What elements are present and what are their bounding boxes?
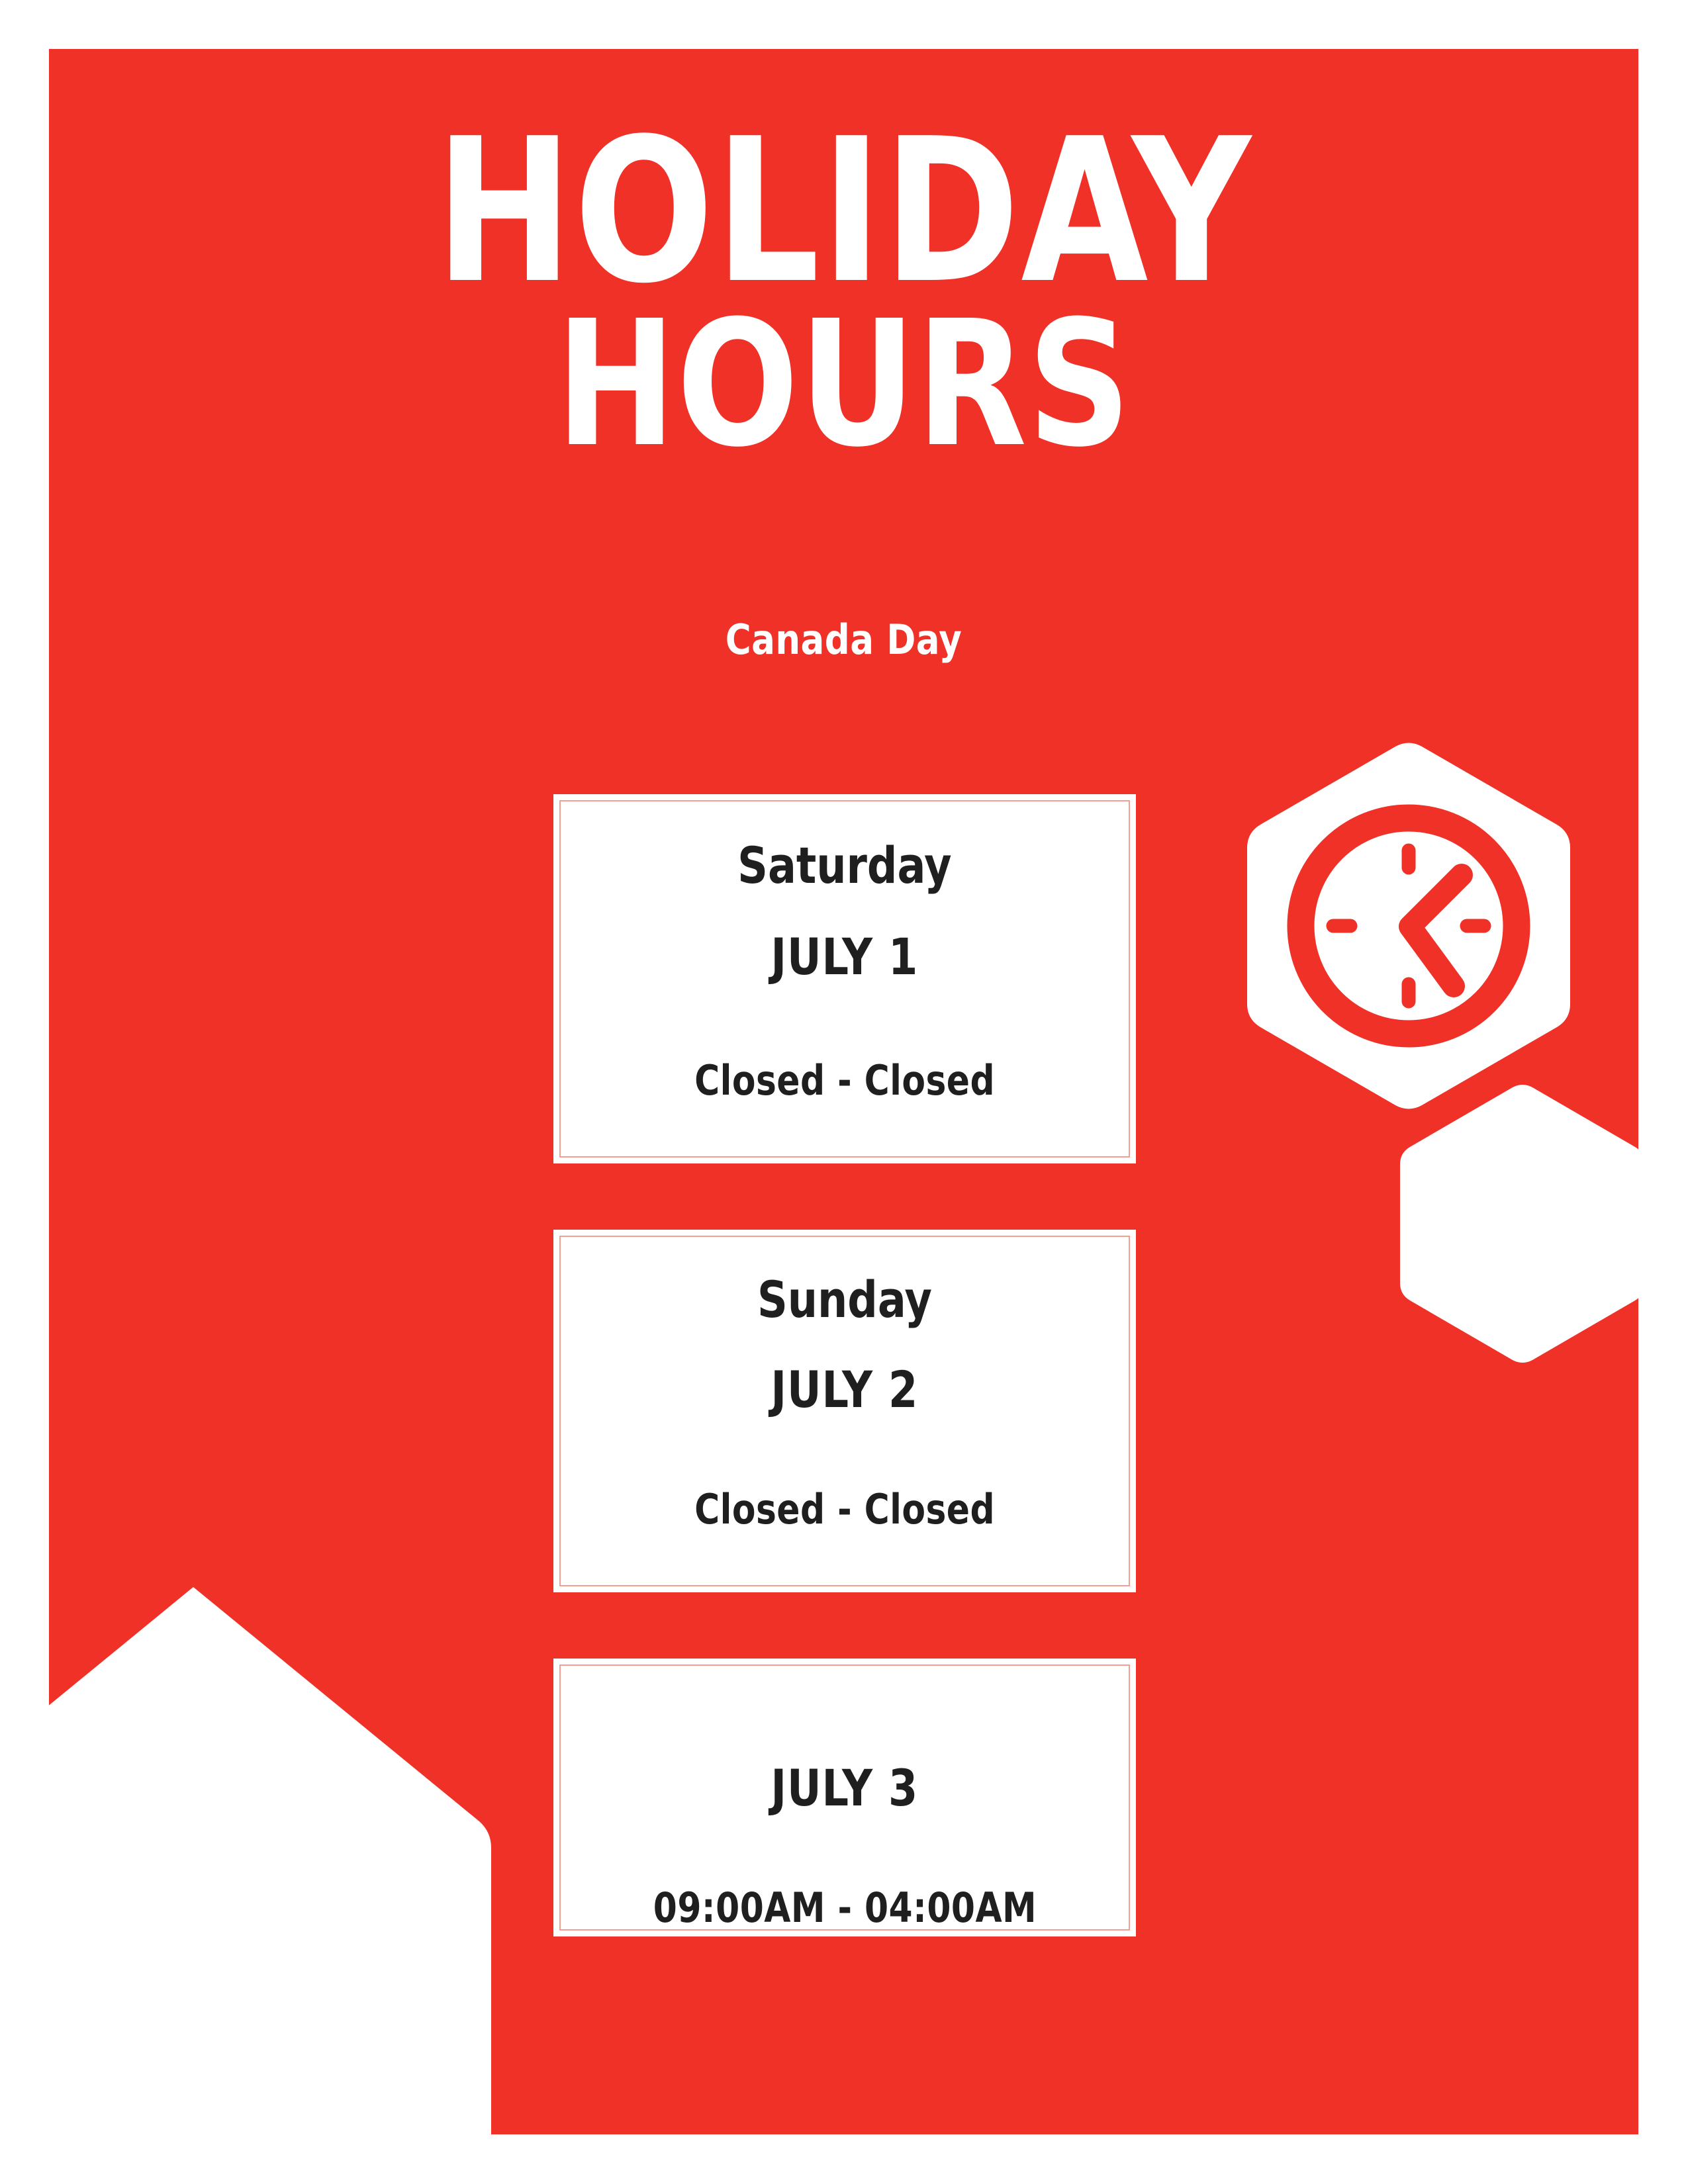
card-hours-label: 09:00AM - 04:00AM [653,1888,1036,1929]
schedule-card-list: Saturday JULY 1 Closed - Closed Sunday J… [553,794,1136,1936]
card-date-label: JULY 2 [771,1365,919,1415]
card-date-label: JULY 1 [771,932,919,982]
headline-line-1: HOLIDAY [113,119,1575,304]
schedule-card: JULY 3 09:00AM - 04:00AM [553,1659,1136,1936]
card-date-label: JULY 3 [771,1763,919,1813]
card-day-label: Saturday [737,841,951,891]
card-hours-label: Closed - Closed [694,1060,995,1101]
poster-headline: HOLIDAY HOURS [49,119,1638,465]
poster-subtitle: Canada Day [89,615,1599,664]
card-hours-label: Closed - Closed [694,1489,995,1530]
schedule-card: Sunday JULY 2 Closed - Closed [553,1230,1136,1592]
card-day-label: Sunday [757,1275,932,1325]
headline-line-2: HOURS [113,304,1575,465]
holiday-hours-poster: HOLIDAY HOURS Canada Day Saturday JULY 1… [0,0,1688,2184]
schedule-card: Saturday JULY 1 Closed - Closed [553,794,1136,1163]
